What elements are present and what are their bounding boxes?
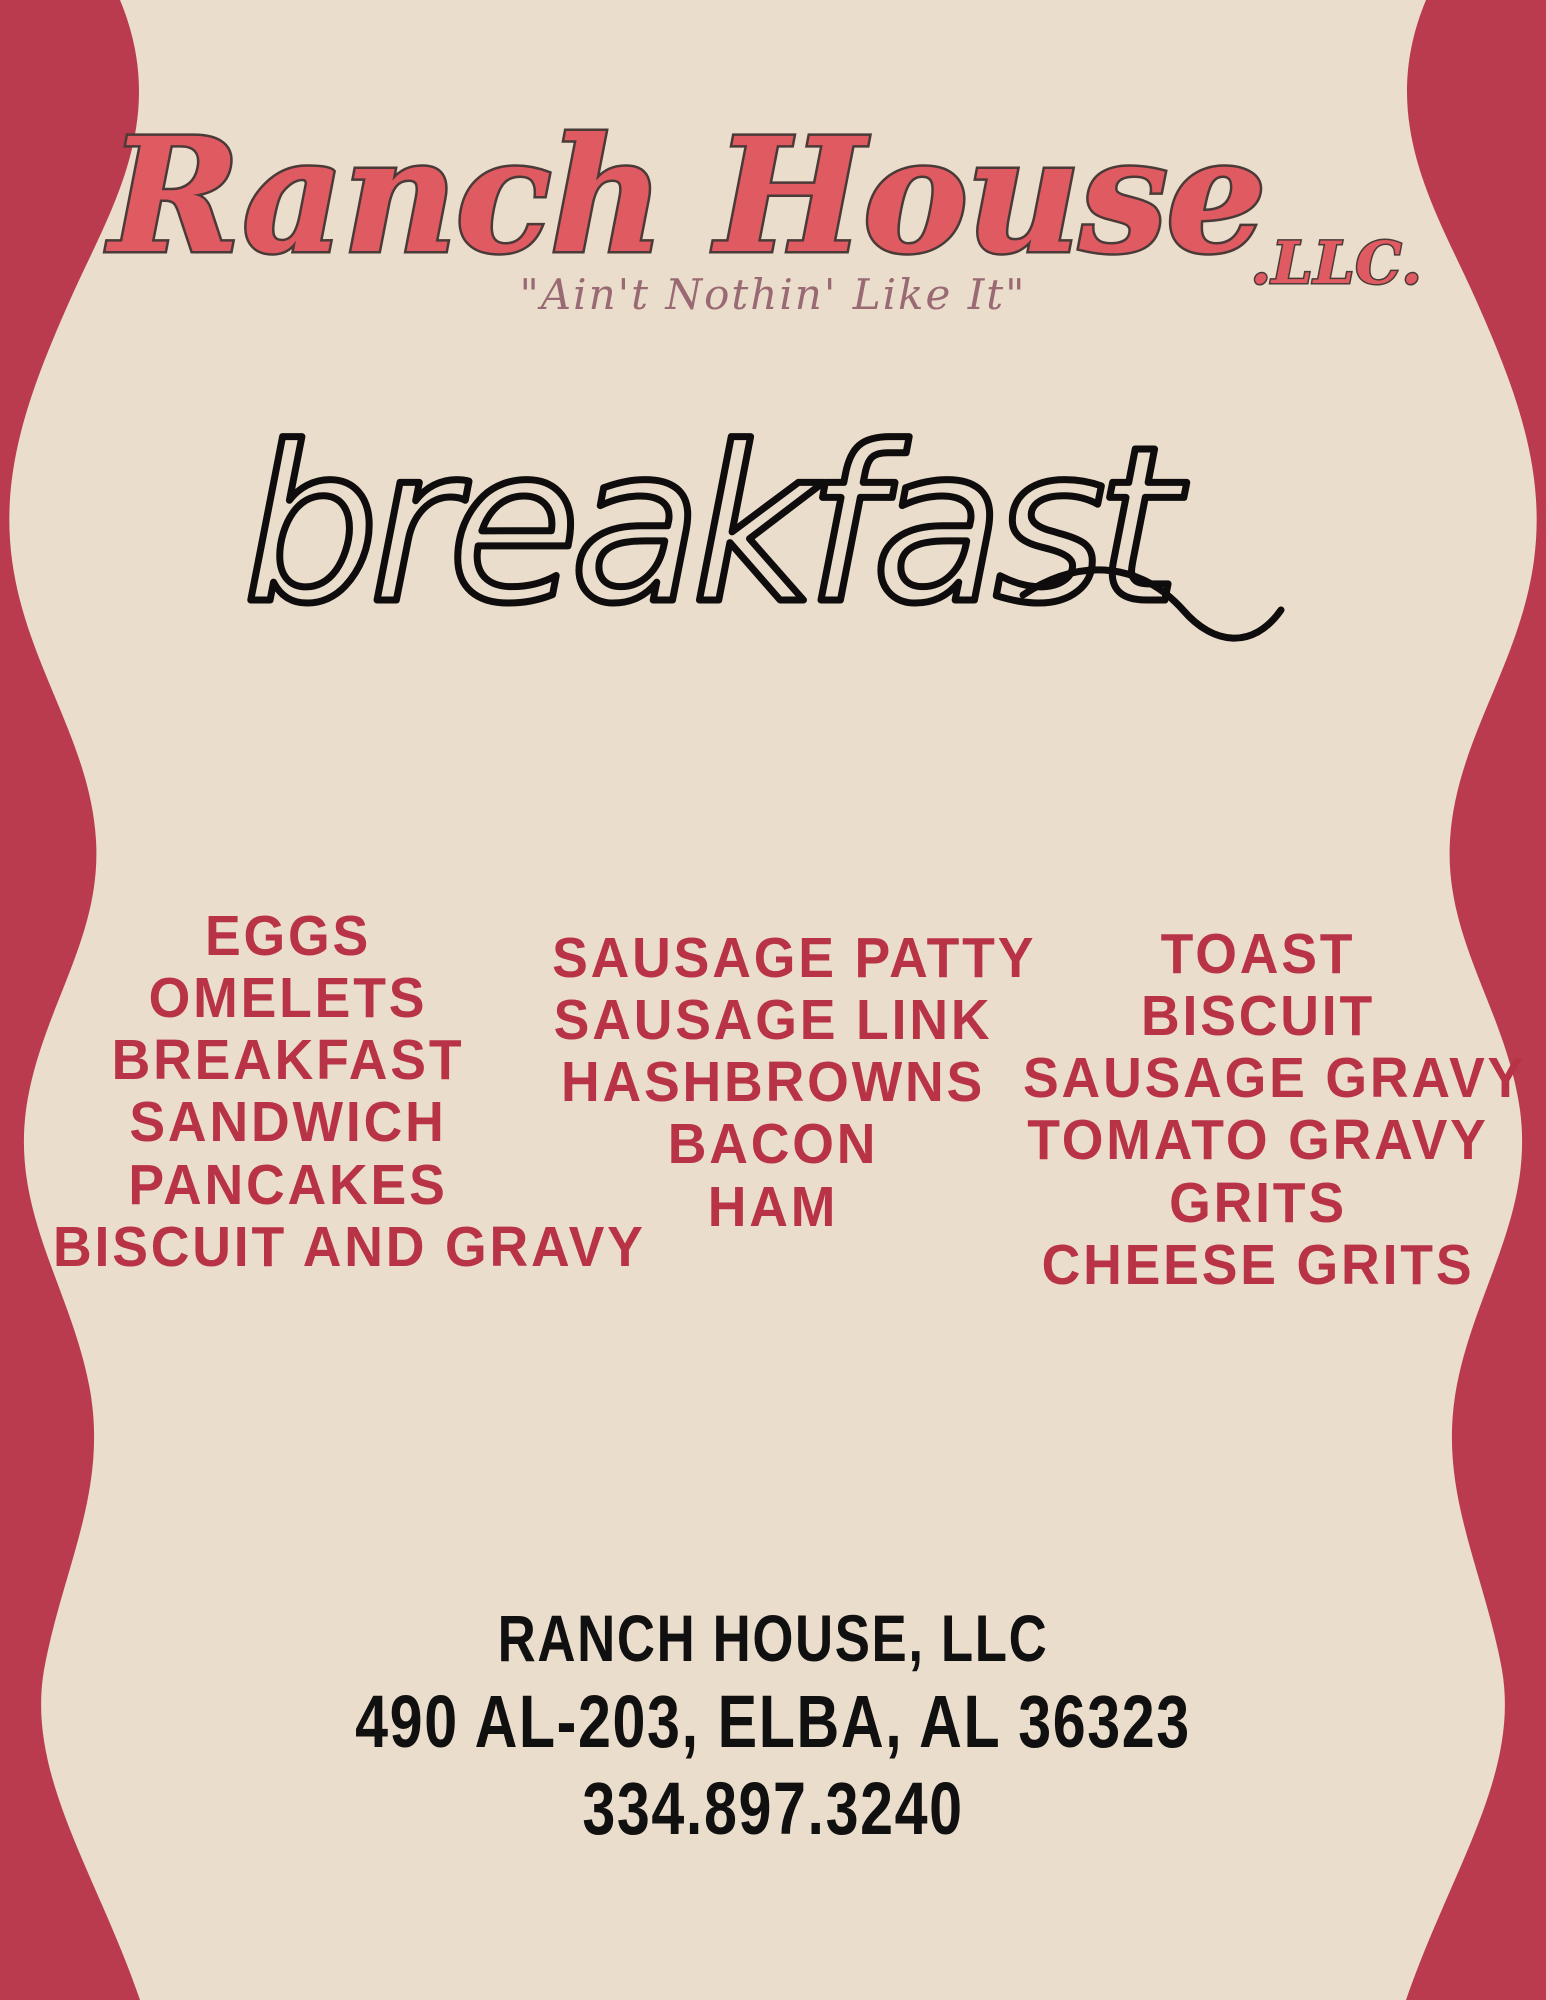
menu-item: CHEESE GRITS — [1023, 1234, 1493, 1296]
menu-columns: EGGS OMELETS BREAKFAST SANDWICH PANCAKES… — [0, 905, 1546, 1296]
menu-item: BISCUIT AND GRAVY — [53, 1216, 523, 1278]
menu-item: TOMATO GRAVY — [1023, 1109, 1493, 1171]
menu-column-3: TOAST BISCUIT SAUSAGE GRAVY TOMATO GRAVY… — [1008, 905, 1508, 1296]
breakfast-script-svg: breakfast — [223, 405, 1323, 685]
footer-phone: 334.897.3240 — [155, 1765, 1392, 1852]
menu-column-1: EGGS OMELETS BREAKFAST SANDWICH PANCAKES… — [38, 905, 538, 1278]
menu-item: BACON — [552, 1113, 994, 1175]
menu-poster: Ranch House.LLC. "Ain't Nothin' Like It"… — [0, 0, 1546, 2000]
logo-block: Ranch House.LLC. "Ain't Nothin' Like It" — [0, 118, 1546, 319]
menu-item: EGGS — [53, 905, 523, 967]
menu-item: SAUSAGE PATTY — [552, 927, 994, 989]
menu-item: SAUSAGE LINK — [552, 989, 994, 1051]
logo-llc-suffix: .LLC. — [1251, 229, 1423, 297]
menu-item: BISCUIT — [1023, 985, 1493, 1047]
footer-business-name: RANCH HOUSE, LLC — [155, 1600, 1392, 1678]
menu-item: PANCAKES — [53, 1154, 523, 1216]
menu-item: HASHBROWNS — [552, 1051, 994, 1113]
breakfast-heading: breakfast — [0, 430, 1546, 660]
menu-column-2: SAUSAGE PATTY SAUSAGE LINK HASHBROWNS BA… — [538, 905, 1008, 1238]
menu-item: GRITS — [1023, 1172, 1493, 1234]
logo-wordmark: Ranch House — [109, 104, 1264, 289]
menu-item: BREAKFAST — [53, 1029, 523, 1091]
menu-item: OMELETS — [53, 967, 523, 1029]
breakfast-script-text: breakfast — [243, 400, 1187, 651]
menu-item: SANDWICH — [53, 1091, 523, 1153]
menu-item: HAM — [552, 1176, 994, 1238]
footer-block: RANCH HOUSE, LLC 490 AL-203, ELBA, AL 36… — [0, 1600, 1546, 1853]
footer-address: 490 AL-203, ELBA, AL 36323 — [155, 1678, 1392, 1765]
logo-lockup: Ranch House.LLC. — [109, 118, 1436, 276]
menu-item: SAUSAGE GRAVY — [1023, 1047, 1493, 1109]
menu-item: TOAST — [1023, 923, 1493, 985]
